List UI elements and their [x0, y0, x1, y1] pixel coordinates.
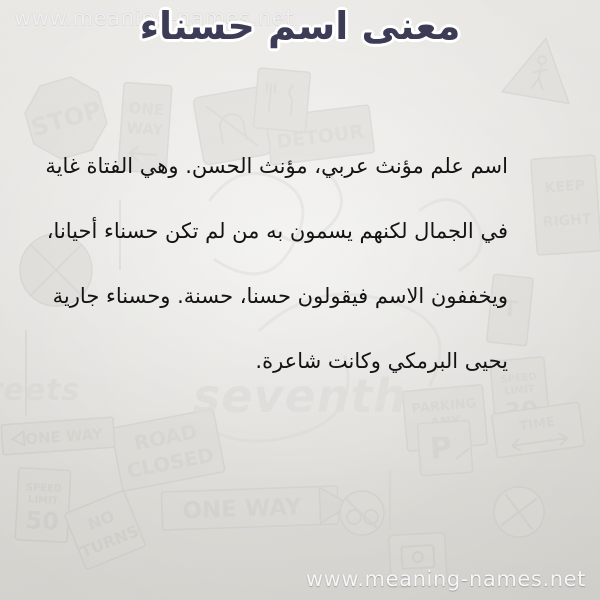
svg-text:TIME: TIME [519, 415, 556, 435]
article-line: يحيى البرمكي وكانت شاعرة. [92, 347, 508, 375]
svg-text:STOP: STOP [28, 96, 105, 143]
article-line: في الجمال لكنهم يسمون به من لم تكن حسناء… [92, 217, 508, 245]
article-body: اسم علم مؤنث عربي، مؤنث الحسن. وهي الفتا… [92, 152, 508, 375]
svg-text:reets: reets [0, 373, 80, 408]
svg-text:50: 50 [25, 506, 60, 536]
svg-text:30: 30 [504, 396, 540, 427]
svg-text:ROAD: ROAD [132, 419, 199, 455]
svg-text:SPEED: SPEED [25, 482, 62, 495]
svg-text:ANY: ANY [430, 414, 462, 432]
svg-text:ONE WAY: ONE WAY [25, 425, 105, 448]
svg-text:RIGHT: RIGHT [542, 211, 592, 230]
svg-text:ONE: ONE [128, 99, 165, 119]
svg-text:DETOUR: DETOUR [275, 121, 365, 154]
watermark-bottom-right: www.meaning-names.net [306, 567, 586, 591]
svg-text:WAY: WAY [126, 119, 165, 140]
svg-text:TURNS: TURNS [78, 521, 142, 562]
svg-text:CLOSED: CLOSED [125, 443, 216, 483]
svg-text:TIME: TIME [428, 429, 465, 447]
svg-text:seventh: seventh [193, 369, 407, 423]
svg-text:ONE WAY: ONE WAY [182, 494, 302, 524]
svg-text:LIMIT: LIMIT [504, 384, 536, 398]
page-canvas: .sg { fill: none; stroke: #d5d3ce; strok… [0, 0, 600, 600]
svg-text:PARKING: PARKING [411, 396, 477, 417]
svg-text:LIMIT: LIMIT [28, 494, 59, 507]
article-line: ويخففون الاسم فيقولون حسنا، حسنة. وحسناء… [92, 282, 508, 310]
svg-text:KEEP: KEEP [544, 178, 585, 197]
svg-text:P: P [429, 431, 453, 467]
svg-text:NO: NO [85, 506, 117, 534]
article-line: اسم علم مؤنث عربي، مؤنث الحسن. وهي الفتا… [92, 152, 508, 180]
page-title: معنى اسم حسناء [0, 3, 600, 49]
